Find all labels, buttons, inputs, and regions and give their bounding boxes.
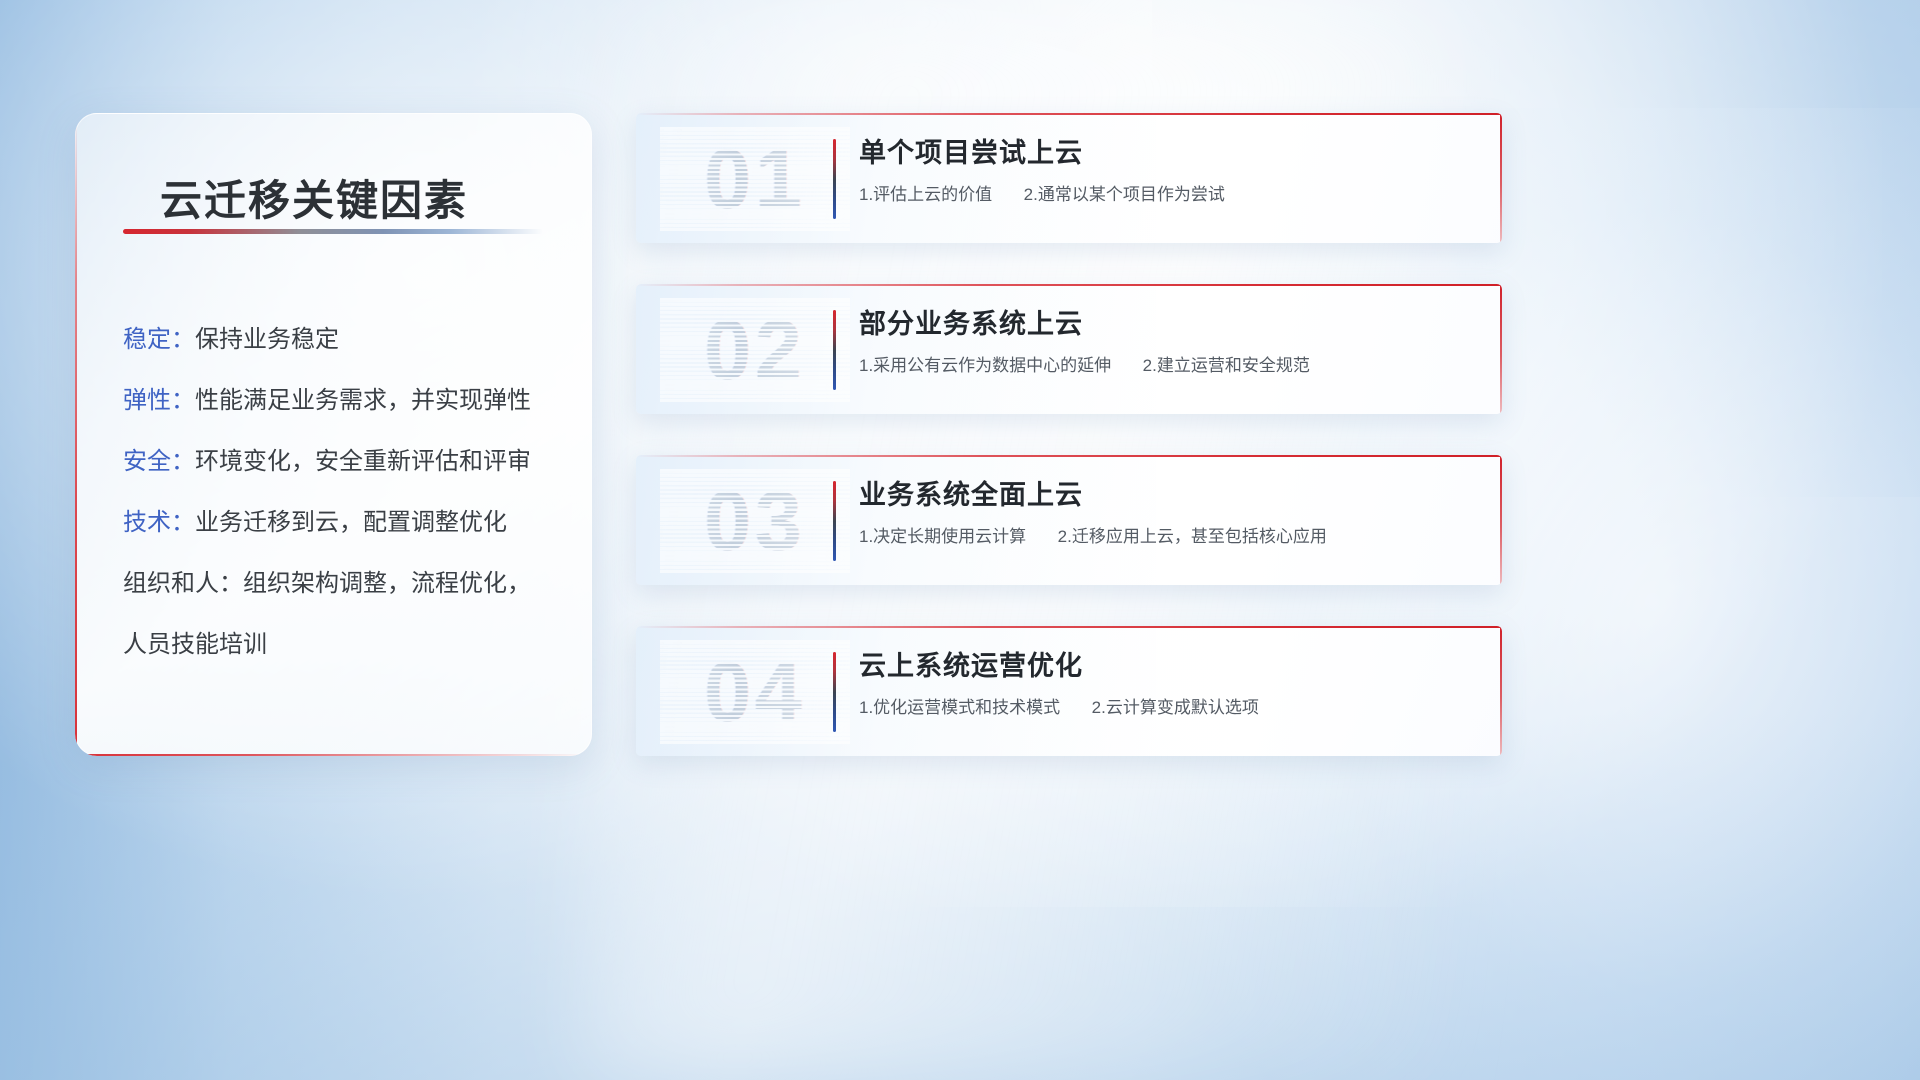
factor-text: 性能满足业务需求，并实现弹性 [195, 387, 531, 414]
list-item-continuation: 人员技能培训 [123, 614, 571, 675]
panel-bottom-accent [75, 754, 592, 756]
list-item: 技术：业务迁移到云，配置调整优化 [123, 492, 571, 553]
stage-card-04[interactable]: 04 云上系统运营优化 1.优化运营模式和技术模式 2.云计算变成默认选项 [636, 626, 1502, 756]
card-content: 单个项目尝试上云 1.评估上云的价值 2.通常以某个项目作为尝试 [859, 133, 1478, 208]
card-top-accent [636, 113, 1502, 115]
stage-title: 云上系统运营优化 [859, 646, 1478, 686]
stage-title: 单个项目尝试上云 [859, 133, 1478, 173]
title-underline-gradient [123, 229, 543, 234]
stage-point-2: 2.建立运营和安全规范 [1143, 356, 1310, 375]
card-right-accent [1500, 455, 1502, 585]
stage-number-text: 03 [704, 473, 805, 570]
factor-label: 组织和人： [123, 570, 243, 597]
stage-title: 部分业务系统上云 [859, 304, 1478, 344]
factor-text: 组织架构调整，流程优化， [243, 570, 531, 597]
list-item: 安全：环境变化，安全重新评估和评审 [123, 431, 571, 492]
page-title: 云迁移关键因素 [160, 167, 468, 228]
panel-top-highlight [75, 113, 592, 114]
stage-points: 1.决定长期使用云计算 2.迁移应用上云，甚至包括核心应用 [859, 524, 1478, 550]
stage-point-2: 2.云计算变成默认选项 [1092, 698, 1259, 717]
card-right-accent [1500, 113, 1502, 243]
key-factors-list: 稳定：保持业务稳定 弹性：性能满足业务需求，并实现弹性 安全：环境变化，安全重新… [123, 309, 571, 675]
factor-text: 保持业务稳定 [195, 326, 339, 353]
card-divider-bar [833, 652, 836, 732]
stage-card-01[interactable]: 01 单个项目尝试上云 1.评估上云的价值 2.通常以某个项目作为尝试 [636, 113, 1502, 243]
card-top-accent [636, 284, 1502, 286]
stage-number-glyph: 02 [660, 298, 850, 402]
panel-left-accent [75, 113, 77, 756]
stage-point-2: 2.通常以某个项目作为尝试 [1024, 185, 1225, 204]
stage-number-text: 01 [704, 131, 805, 228]
list-item: 稳定：保持业务稳定 [123, 309, 571, 370]
factor-label: 安全： [123, 448, 195, 475]
slide-canvas: 云迁移关键因素 稳定：保持业务稳定 弹性：性能满足业务需求，并实现弹性 安全：环… [0, 0, 1920, 1080]
stage-points: 1.采用公有云作为数据中心的延伸 2.建立运营和安全规范 [859, 353, 1478, 379]
list-item: 弹性：性能满足业务需求，并实现弹性 [123, 370, 571, 431]
stage-number-glyph: 01 [660, 127, 850, 231]
card-divider-bar [833, 310, 836, 390]
card-divider-bar [833, 139, 836, 219]
card-divider-bar [833, 481, 836, 561]
stage-points: 1.优化运营模式和技术模式 2.云计算变成默认选项 [859, 695, 1478, 721]
card-content: 云上系统运营优化 1.优化运营模式和技术模式 2.云计算变成默认选项 [859, 646, 1478, 721]
stage-point-1: 1.决定长期使用云计算 [859, 527, 1026, 546]
stage-point-1: 1.采用公有云作为数据中心的延伸 [859, 356, 1111, 375]
stage-point-2: 2.迁移应用上云，甚至包括核心应用 [1058, 527, 1327, 546]
factor-text: 业务迁移到云，配置调整优化 [195, 509, 507, 536]
stage-card-03[interactable]: 03 业务系统全面上云 1.决定长期使用云计算 2.迁移应用上云，甚至包括核心应… [636, 455, 1502, 585]
factor-text: 环境变化，安全重新评估和评审 [195, 448, 531, 475]
card-right-accent [1500, 284, 1502, 414]
stage-card-02[interactable]: 02 部分业务系统上云 1.采用公有云作为数据中心的延伸 2.建立运营和安全规范 [636, 284, 1502, 414]
factor-label: 弹性： [123, 387, 195, 414]
stage-points: 1.评估上云的价值 2.通常以某个项目作为尝试 [859, 182, 1478, 208]
card-top-accent [636, 455, 1502, 457]
factor-label: 技术： [123, 509, 195, 536]
card-content: 业务系统全面上云 1.决定长期使用云计算 2.迁移应用上云，甚至包括核心应用 [859, 475, 1478, 550]
card-right-accent [1500, 626, 1502, 756]
stage-point-1: 1.优化运营模式和技术模式 [859, 698, 1060, 717]
stage-number-glyph: 03 [660, 469, 850, 573]
card-content: 部分业务系统上云 1.采用公有云作为数据中心的延伸 2.建立运营和安全规范 [859, 304, 1478, 379]
key-factors-panel: 云迁移关键因素 稳定：保持业务稳定 弹性：性能满足业务需求，并实现弹性 安全：环… [75, 113, 592, 756]
stage-number-text: 02 [704, 302, 805, 399]
card-top-accent [636, 626, 1502, 628]
stage-point-1: 1.评估上云的价值 [859, 185, 992, 204]
stage-number-text: 04 [704, 644, 805, 741]
factor-label: 稳定： [123, 326, 195, 353]
stage-number-glyph: 04 [660, 640, 850, 744]
factor-text-line2: 人员技能培训 [123, 631, 267, 658]
migration-stages-list: 01 单个项目尝试上云 1.评估上云的价值 2.通常以某个项目作为尝试 02 [636, 113, 1502, 797]
list-item: 组织和人：组织架构调整，流程优化， [123, 553, 571, 614]
stage-title: 业务系统全面上云 [859, 475, 1478, 515]
